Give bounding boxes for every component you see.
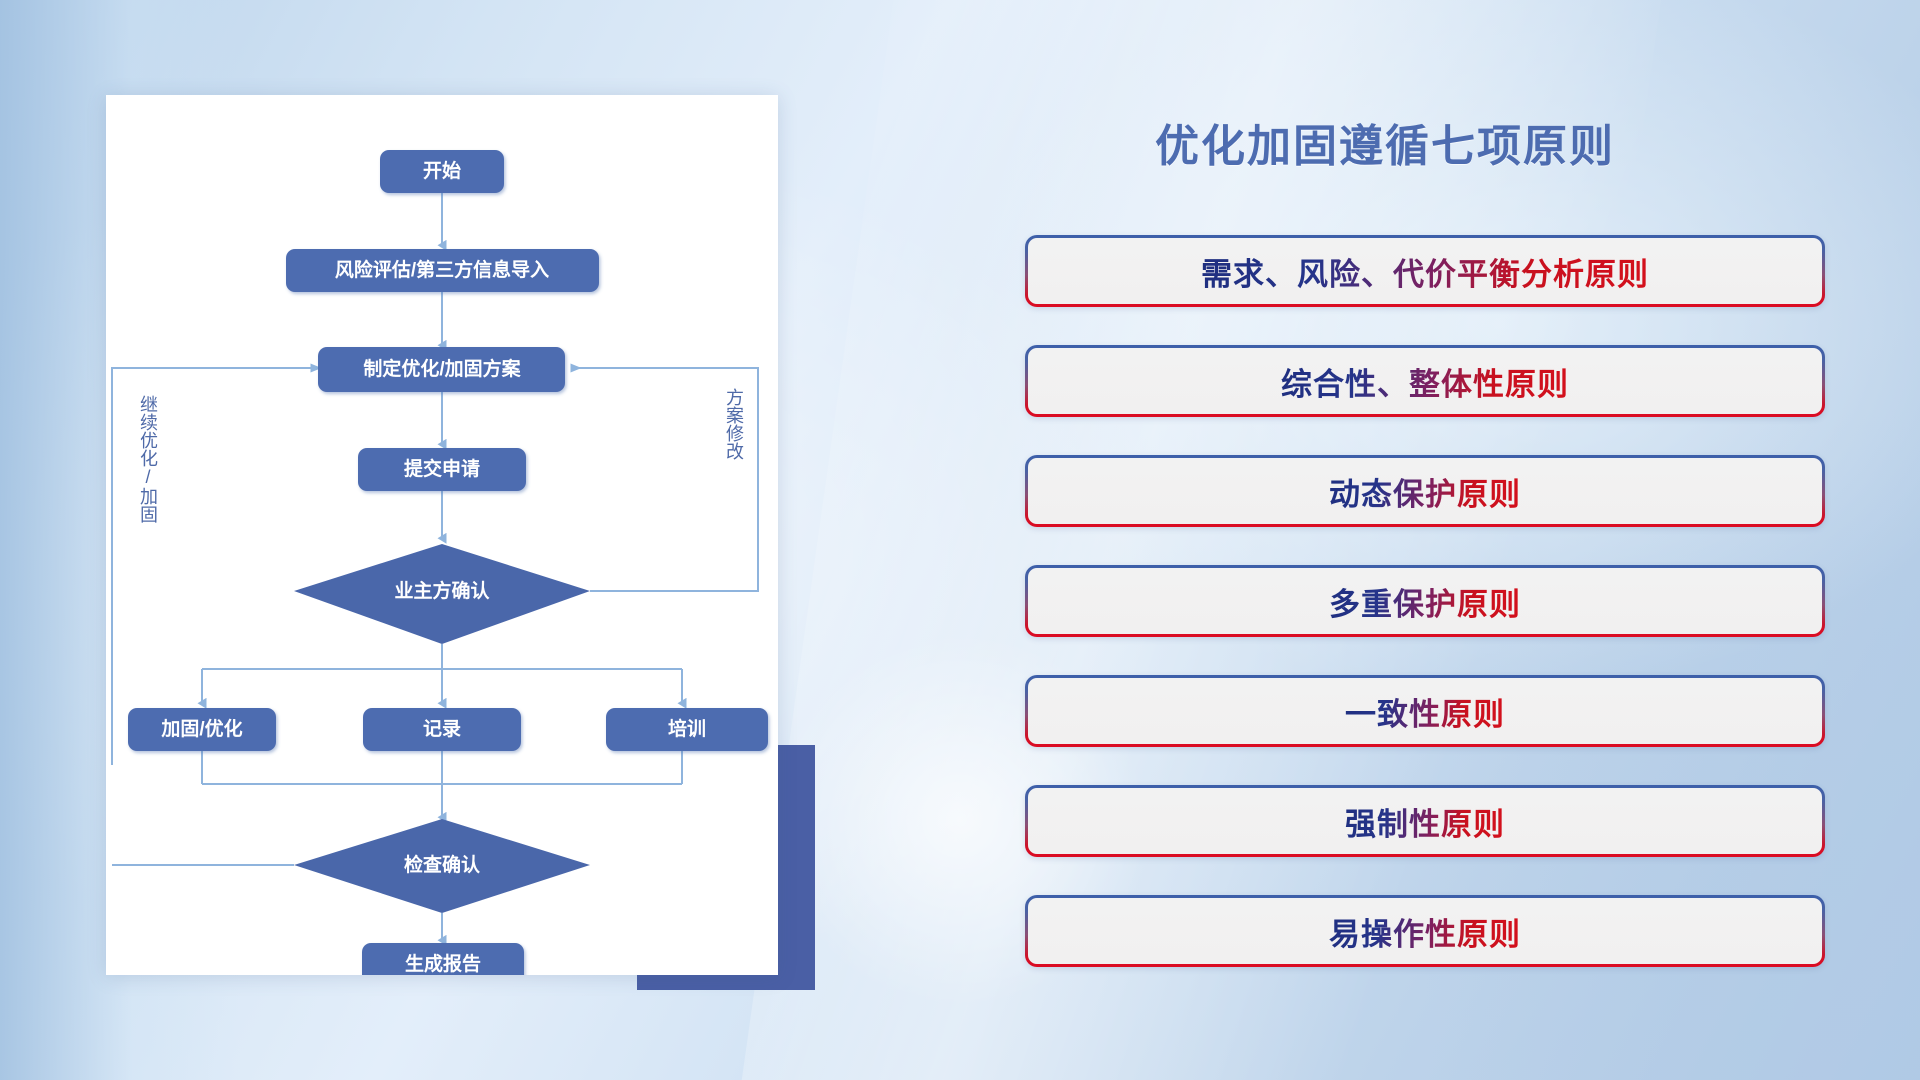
flow-node-label: 制定优化/加固方案 (363, 357, 521, 380)
principle-item[interactable]: 综合性、整体性原则 (1025, 345, 1825, 417)
flow-node-record[interactable]: 记录 (363, 708, 521, 751)
flow-node-label: 开始 (423, 159, 461, 182)
flow-edge-label-left: 继续优化/加固 (138, 395, 158, 523)
flow-node-report[interactable]: 生成报告 (362, 943, 524, 975)
principle-item[interactable]: 强制性原则 (1025, 785, 1825, 857)
flow-node-label: 生成报告 (405, 952, 481, 975)
flow-node-label: 记录 (423, 718, 461, 740)
principle-item[interactable]: 需求、风险、代价平衡分析原则 (1025, 235, 1825, 307)
principle-list: 需求、风险、代价平衡分析原则 综合性、整体性原则 动态保护原则 多重保护原则 一… (1025, 235, 1825, 1005)
principle-label: 强制性原则 (1345, 799, 1505, 844)
principle-item[interactable]: 易操作性原则 (1025, 895, 1825, 967)
flow-node-submit[interactable]: 提交申请 (358, 448, 526, 491)
principles-panel: 优化加固遵循七项原则 需求、风险、代价平衡分析原则 综合性、整体性原则 动态保护… (1010, 90, 1840, 1010)
flow-node-start[interactable]: 开始 (380, 150, 504, 193)
flow-node-check-confirm[interactable]: 检查确认 (294, 819, 590, 913)
flow-node-label: 培训 (668, 717, 706, 740)
flow-edge-label-right: 方案修改 (724, 388, 744, 460)
principle-label: 综合性、整体性原则 (1281, 359, 1569, 404)
flowchart-card: 开始 风险评估/第三方信息导入 制定优化/加固方案 提交申请 业主方确认 加固/… (106, 95, 778, 975)
flow-node-label: 风险评估/第三方信息导入 (335, 258, 549, 281)
flow-node-label: 检查确认 (404, 853, 480, 876)
flow-node-owner-confirm[interactable]: 业主方确认 (294, 544, 590, 644)
flow-node-plan[interactable]: 制定优化/加固方案 (318, 347, 565, 392)
principle-label: 多重保护原则 (1329, 579, 1521, 624)
principle-label: 需求、风险、代价平衡分析原则 (1201, 249, 1649, 294)
flow-node-risk-assessment[interactable]: 风险评估/第三方信息导入 (286, 249, 599, 292)
principle-label: 一致性原则 (1345, 689, 1505, 734)
flow-node-label: 业主方确认 (394, 579, 489, 602)
principle-item[interactable]: 多重保护原则 (1025, 565, 1825, 637)
flow-node-reinforce[interactable]: 加固/优化 (128, 708, 276, 751)
principle-item[interactable]: 一致性原则 (1025, 675, 1825, 747)
flowchart-svg: 开始 风险评估/第三方信息导入 制定优化/加固方案 提交申请 业主方确认 加固/… (106, 95, 778, 975)
flow-node-training[interactable]: 培训 (606, 708, 768, 751)
flow-node-label: 加固/优化 (160, 717, 242, 740)
principle-item[interactable]: 动态保护原则 (1025, 455, 1825, 527)
principle-label: 动态保护原则 (1329, 469, 1521, 514)
flow-node-label: 提交申请 (404, 457, 480, 480)
panel-title: 优化加固遵循七项原则 (1155, 110, 1615, 174)
principle-label: 易操作性原则 (1329, 909, 1521, 954)
